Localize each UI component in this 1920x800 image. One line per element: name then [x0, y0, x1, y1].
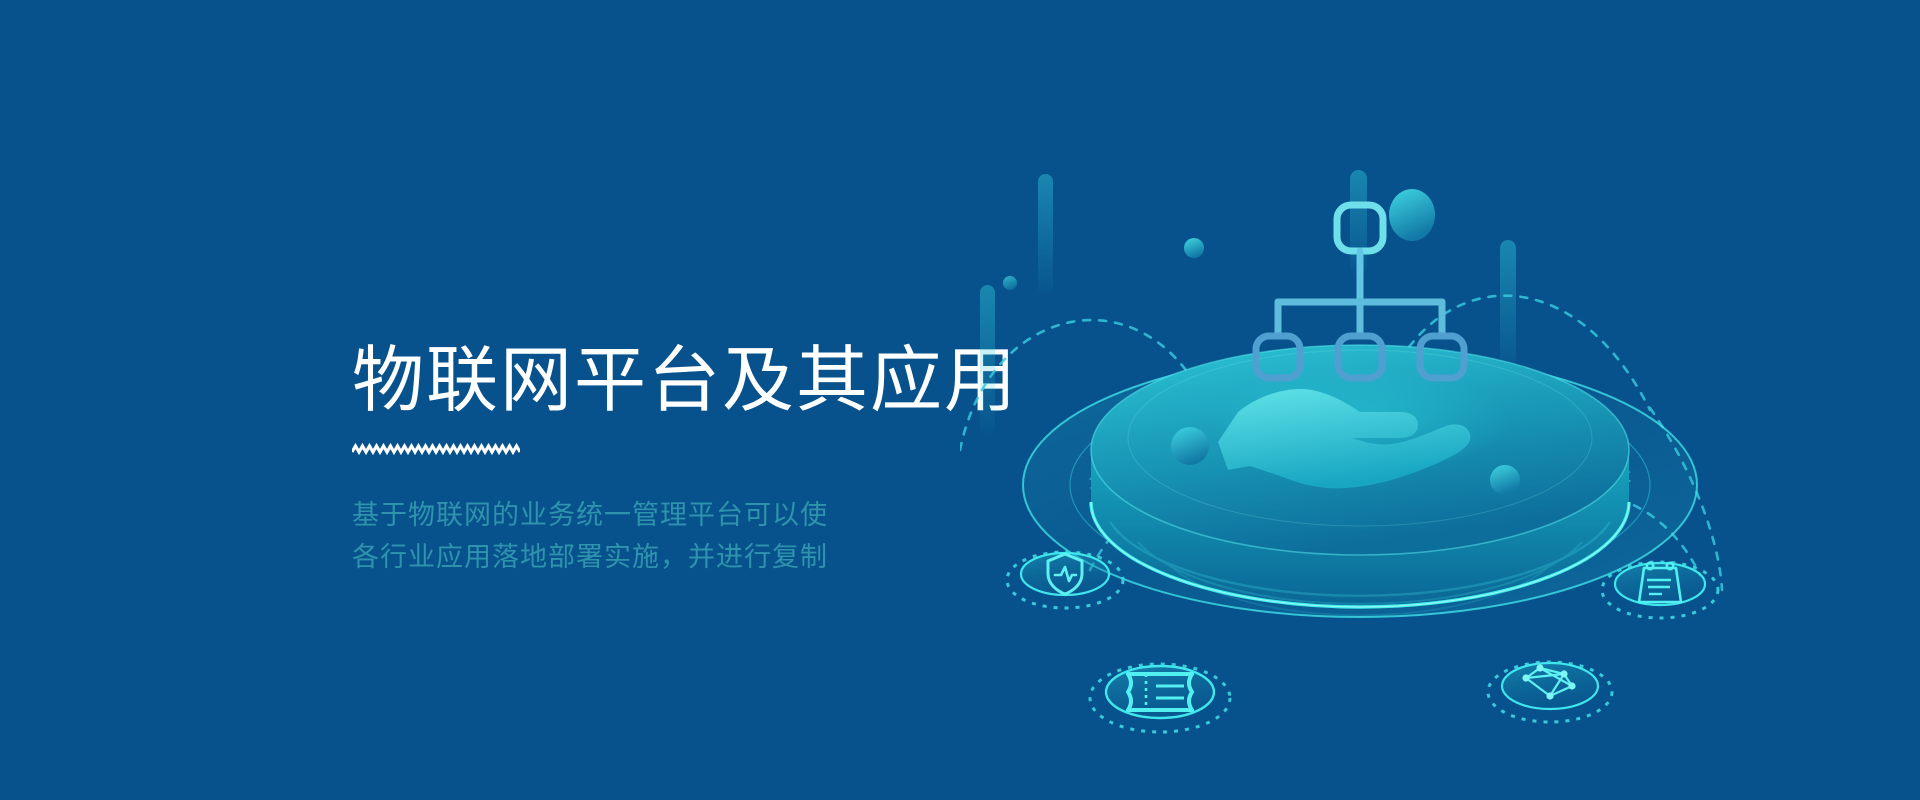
node-ticket[interactable] [1090, 664, 1230, 732]
node-clipboard[interactable] [1602, 562, 1718, 618]
hero-text-block: 物联网平台及其应用 基于物联网的业务统一管理平台可以使 各行业应用落地部署实施，… [352, 345, 972, 579]
subtitle-line-1: 基于物联网的业务统一管理平台可以使 [352, 495, 972, 537]
page-title: 物联网平台及其应用 [352, 345, 972, 417]
subtitle-line-2: 各行业应用落地部署实施，并进行复制 [352, 537, 972, 579]
iot-platform-illustration [960, 150, 1920, 770]
zigzag-divider-icon [352, 443, 520, 455]
hero-subtitle: 基于物联网的业务统一管理平台可以使 各行业应用落地部署实施，并进行复制 [352, 495, 972, 579]
hero-banner: 物联网平台及其应用 基于物联网的业务统一管理平台可以使 各行业应用落地部署实施，… [0, 0, 1920, 800]
node-network[interactable] [1488, 662, 1612, 722]
